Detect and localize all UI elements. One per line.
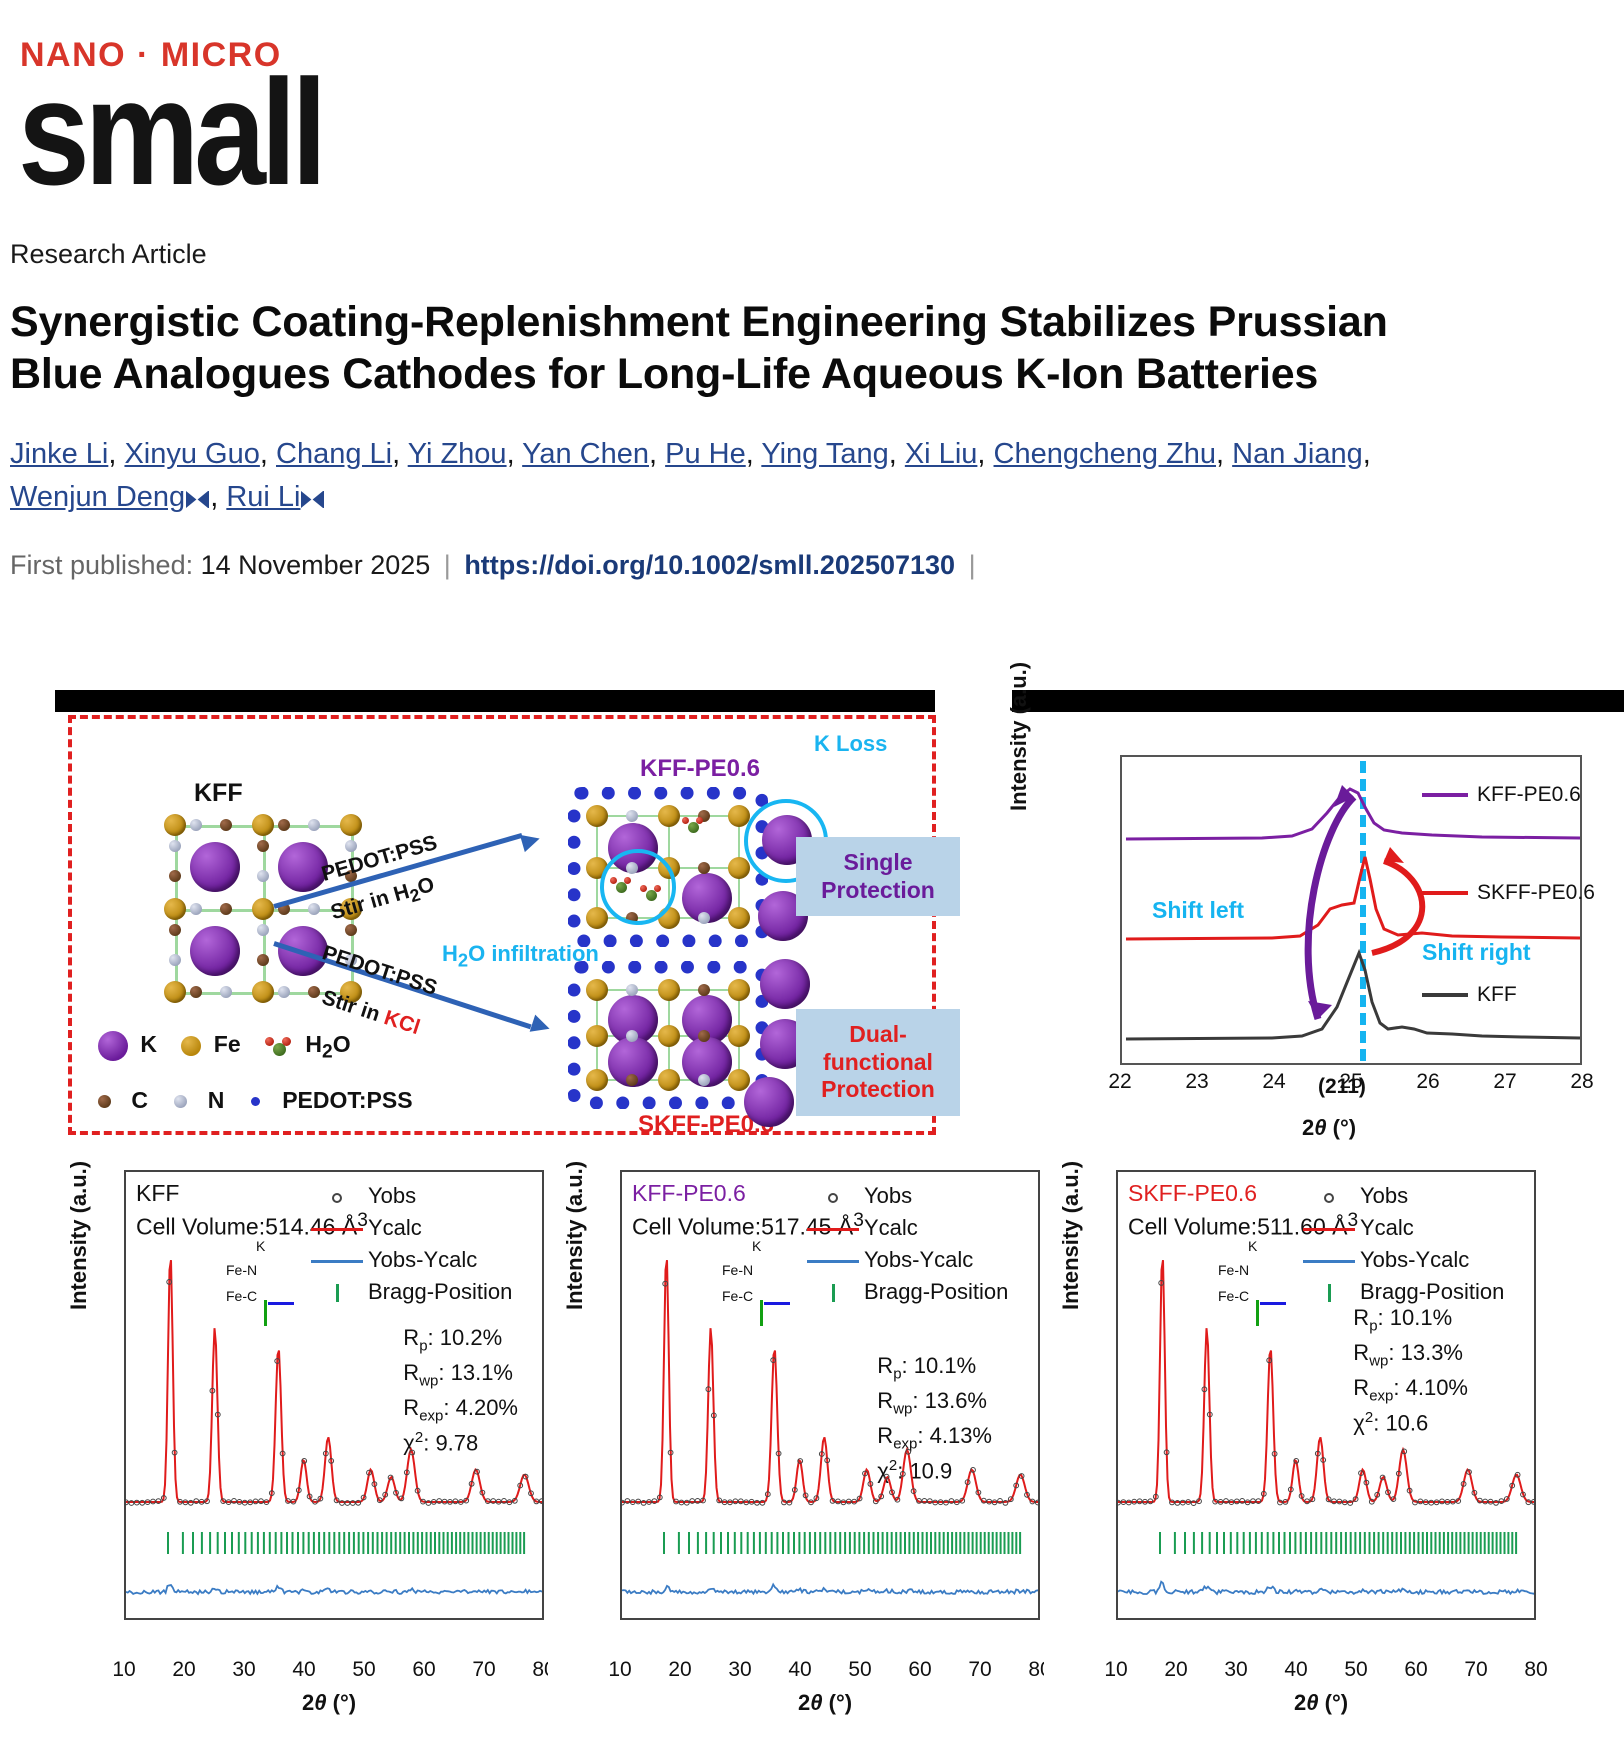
rietveld-kffpe-x-ticks: 1020304050607080	[620, 1658, 1040, 1684]
x-tick-label: 50	[1344, 1658, 1367, 1682]
figure-panel-a-topbar	[55, 690, 935, 712]
x-tick-label: 26	[1416, 1070, 1439, 1094]
x-tick-label: 60	[412, 1658, 435, 1682]
legend-c-dot	[98, 1095, 111, 1108]
author-link[interactable]: Rui Li	[226, 481, 300, 513]
x-tick-label: 50	[352, 1658, 375, 1682]
x-tick-label: 40	[292, 1658, 315, 1682]
rietveld-kffpe-inset: K Fe-N Fe-C	[718, 1240, 898, 1332]
publication-date: 14 November 2025	[201, 550, 431, 580]
xrd-y-axis-label: Intensity (a.u.)	[1006, 662, 1032, 811]
legend-n-label: N	[208, 1087, 225, 1113]
schematic-legend-row-1: K Fe H2O	[98, 1031, 351, 1064]
x-tick-label: 70	[472, 1658, 495, 1682]
annotation-shift-left: Shift left	[1152, 897, 1244, 924]
x-tick-label: 70	[1464, 1658, 1487, 1682]
legend-c-label: C	[131, 1087, 148, 1113]
rietveld-kffpe-plot: KFF-PE0.6 Cell Volume:517.45 Å3 Yobs Yca…	[620, 1170, 1040, 1620]
schematic-kff-label: KFF	[194, 779, 243, 808]
doi-link[interactable]: https://doi.org/10.1002/smll.202507130	[464, 550, 955, 580]
legend-h2o-icon	[265, 1037, 291, 1055]
xrd-overlay-chart: Intensity (a.u.) Shift left Shift right	[1012, 715, 1612, 1145]
x-tick-label: 30	[232, 1658, 255, 1682]
xrd-x-axis-ticks: 22232425262728	[1120, 1070, 1582, 1096]
route-arrow-top-head	[520, 830, 542, 852]
x-tick-label: 22	[1108, 1070, 1131, 1094]
annotation-k-loss: K Loss	[814, 731, 887, 757]
rietveld-kff-x-ticks: 1020304050607080	[124, 1658, 544, 1684]
publication-info: First published: 14 November 2025 | http…	[10, 550, 1614, 581]
x-tick-label: 80	[1524, 1658, 1547, 1682]
xrd-legend-kff: KFF	[1422, 983, 1517, 1007]
legend-pedot-label: PEDOT:PSS	[282, 1087, 412, 1113]
x-tick-label: 10	[112, 1658, 135, 1682]
envelope-icon[interactable]	[301, 491, 324, 508]
rietveld-kffpe-y-label: Intensity (a.u.)	[562, 1161, 588, 1310]
legend-k-label: K	[140, 1031, 157, 1057]
figure-graphical-abstract: KFF	[0, 690, 1624, 1756]
rietveld-kffpe-x-label: 2θ (°)	[798, 1690, 852, 1716]
surface-k-ion-1	[760, 959, 810, 1009]
author-link[interactable]: Ying Tang	[761, 438, 888, 470]
annotation-shift-right: Shift right	[1422, 939, 1531, 966]
legend-pedot-dot	[251, 1097, 260, 1106]
route-arrow-bottom-head	[530, 1015, 553, 1038]
pubinfo-separator-1: |	[438, 550, 457, 580]
x-tick-label: 20	[172, 1658, 195, 1682]
rietveld-kff-inset: K Fe-N Fe-C	[222, 1240, 402, 1332]
x-tick-label: 10	[608, 1658, 631, 1682]
rietveld-kff-plot: KFF Cell Volume:514.46 Å3 Yobs Ycalc Yob…	[124, 1170, 544, 1620]
rietveld-skff-inset: K Fe-N Fe-C	[1214, 1240, 1394, 1332]
page-title: Synergistic Coating-Replenishment Engine…	[10, 296, 1450, 401]
author-link[interactable]: Nan Jiang	[1232, 438, 1363, 470]
h2o-infiltration-highlight-circle	[600, 849, 676, 925]
figure-panel-b-topbar	[1012, 690, 1624, 712]
x-tick-label: 20	[668, 1658, 691, 1682]
author-link[interactable]: Xi Liu	[905, 438, 978, 470]
x-tick-label: 28	[1570, 1070, 1593, 1094]
legend-fe-dot	[181, 1036, 201, 1056]
x-tick-label: 40	[788, 1658, 811, 1682]
legend-h2o-label: H2O	[305, 1031, 350, 1057]
masthead-wordmark: small	[18, 74, 1399, 191]
rietveld-kff-x-label: 2θ (°)	[302, 1690, 356, 1716]
legend-n-dot	[174, 1095, 187, 1108]
legend-fe-label: Fe	[214, 1031, 241, 1057]
badge-dual-protection: Dual-functional Protection	[796, 1009, 960, 1116]
xrd-legend-skff-pe06: SKFF-PE0.6	[1422, 881, 1595, 905]
author-list: Jinke Li, Xinyu Guo, Chang Li, Yi Zhou, …	[10, 433, 1450, 520]
author-link[interactable]: Yan Chen	[522, 438, 649, 470]
article-type-label: Research Article	[10, 239, 1624, 270]
xrd-plot-area: Shift left Shift right (211) KFF-PE0.6 S…	[1120, 755, 1582, 1065]
envelope-icon[interactable]	[186, 491, 209, 508]
rietveld-panel-kff-pe06: Intensity (a.u.) KFF-PE0.6 Cell Volume:5…	[548, 1160, 1048, 1750]
x-tick-label: 60	[1404, 1658, 1427, 1682]
rietveld-panel-kff: Intensity (a.u.) KFF Cell Volume:514.46 …	[52, 1160, 552, 1750]
x-tick-label: 30	[1224, 1658, 1247, 1682]
x-tick-label: 70	[968, 1658, 991, 1682]
particle-skff-pe06-core	[586, 979, 750, 1091]
x-tick-label: 60	[908, 1658, 931, 1682]
x-tick-label: 50	[848, 1658, 871, 1682]
xrd-legend-kff-pe06: KFF-PE0.6	[1422, 783, 1581, 807]
schematic-panel: KFF	[68, 715, 936, 1135]
x-tick-label: 30	[728, 1658, 751, 1682]
rietveld-kff-y-label: Intensity (a.u.)	[66, 1161, 92, 1310]
product-label-kff-pe06: KFF-PE0.6	[640, 755, 760, 783]
xrd-x-axis-label: 2θ (°)	[1302, 1115, 1356, 1141]
author-link[interactable]: Wenjun Deng	[10, 481, 185, 513]
author-link[interactable]: Chengcheng Zhu	[994, 438, 1217, 470]
pubinfo-separator-2: |	[963, 550, 982, 580]
rietveld-panel-skff-pe06: Intensity (a.u.) SKFF-PE0.6 Cell Volume:…	[1044, 1160, 1544, 1750]
journal-masthead: NANO · MICRO small	[0, 0, 1624, 191]
first-published-label: First published:	[10, 550, 193, 580]
schematic-legend-row-2: C N PEDOT:PSS	[98, 1087, 413, 1114]
author-link[interactable]: Pu He	[665, 438, 746, 470]
x-tick-label: 20	[1164, 1658, 1187, 1682]
badge-single-protection: Single Protection	[796, 837, 960, 916]
rietveld-skff-x-label: 2θ (°)	[1294, 1690, 1348, 1716]
x-tick-label: 24	[1262, 1070, 1285, 1094]
x-tick-label: 23	[1185, 1070, 1208, 1094]
author-link[interactable]: Yi Zhou	[408, 438, 507, 470]
rietveld-skff-y-label: Intensity (a.u.)	[1058, 1161, 1084, 1310]
rietveld-skff-plot: SKFF-PE0.6 Cell Volume:511.60 Å3 Yobs Yc…	[1116, 1170, 1536, 1620]
author-link[interactable]: Jinke Li	[10, 438, 108, 470]
rietveld-skff-x-ticks: 1020304050607080	[1116, 1658, 1536, 1684]
author-link[interactable]: Xinyu Guo	[124, 438, 259, 470]
x-tick-label: 10	[1104, 1658, 1127, 1682]
x-tick-label: 25	[1339, 1070, 1362, 1094]
legend-k-dot	[98, 1031, 128, 1061]
x-tick-label: 40	[1284, 1658, 1307, 1682]
x-tick-label: 27	[1493, 1070, 1516, 1094]
author-link[interactable]: Chang Li	[276, 438, 392, 470]
surface-k-ion-3	[744, 1077, 794, 1127]
